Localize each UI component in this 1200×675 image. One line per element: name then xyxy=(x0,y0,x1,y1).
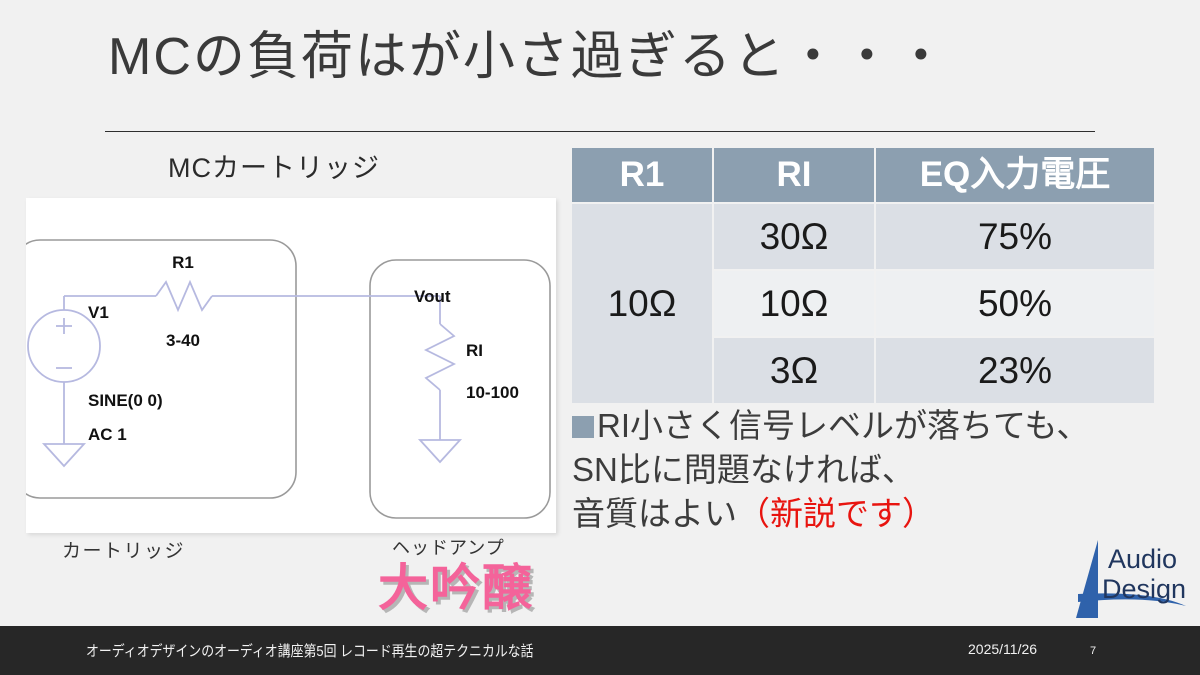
footer-title: オーディオデザインのオーディオ講座第5回 レコード再生の超テクニカルな話 xyxy=(86,640,534,661)
cartridge-enclosure xyxy=(26,240,296,498)
cell-ri-1: 10Ω xyxy=(713,270,875,337)
schematic-heading: MCカートリッジ xyxy=(168,146,380,185)
footer-page-number: 7 xyxy=(1090,645,1096,657)
label-v1: V1 xyxy=(88,303,109,322)
cell-eq-0: 75% xyxy=(875,203,1155,270)
resistance-table: R1 RI EQ入力電圧 10Ω 30Ω 75% 10Ω 50% 3Ω 23% xyxy=(570,146,1148,405)
wiring-right xyxy=(420,296,460,462)
bullet-text-3a: 音質はよい xyxy=(572,495,737,532)
bullet-text-1: RI小さく信号レベルが落ちても、 xyxy=(597,407,1089,444)
schematic-panel: R1 3-40 V1 SINE(0 0) AC 1 Vout RI 10-100 xyxy=(26,198,556,533)
cell-eq-2: 23% xyxy=(875,337,1155,404)
circuit-schematic: R1 3-40 V1 SINE(0 0) AC 1 Vout RI 10-100 xyxy=(26,198,556,533)
headamp-enclosure xyxy=(370,260,550,518)
cell-ri-2: 3Ω xyxy=(713,337,875,404)
logo-text-design: Design xyxy=(1102,574,1186,604)
table-header-eq: EQ入力電圧 xyxy=(875,147,1155,203)
footer-date: 2025/11/26 xyxy=(968,641,1037,657)
table-header-r1: R1 xyxy=(571,147,713,203)
label-ri-value: 10-100 xyxy=(466,383,519,402)
cell-ri-0: 30Ω xyxy=(713,203,875,270)
bullet-line-1: RI小さく信号レベルが落ちても、 xyxy=(572,404,1172,448)
logo-triangle-icon xyxy=(1076,540,1098,618)
title-divider xyxy=(105,131,1095,132)
bullet-line-2: SN比に問題なければ、 xyxy=(572,448,1172,492)
bullet-line-3: 音質はよい（新説です） xyxy=(572,492,1172,536)
label-ac: AC 1 xyxy=(88,425,127,444)
caption-cartridge: カートリッジ xyxy=(62,536,185,563)
table-header-row: R1 RI EQ入力電圧 xyxy=(571,147,1155,203)
table-row: 10Ω 30Ω 75% xyxy=(571,203,1155,270)
bullet-square-icon xyxy=(572,416,594,438)
table-header-ri: RI xyxy=(713,147,875,203)
label-sine: SINE(0 0) xyxy=(88,391,163,410)
cell-r1-value: 10Ω xyxy=(571,203,713,404)
label-r1-name: R1 xyxy=(172,253,194,272)
logo-text-audio: Audio xyxy=(1108,544,1177,574)
page-title: MCの負荷はが小さ過ぎると・・・ xyxy=(108,28,1098,88)
daiginjo-stamp: 大吟醸 xyxy=(378,548,534,620)
slide-root: MCの負荷はが小さ過ぎると・・・ MCカートリッジ xyxy=(0,0,1200,675)
audio-design-logo: Audio Design xyxy=(1068,532,1192,624)
label-vout: Vout xyxy=(414,287,451,306)
label-ri-name: RI xyxy=(466,341,483,360)
source-polarity xyxy=(56,318,72,368)
label-r1-value: 3-40 xyxy=(166,331,200,350)
conclusion-text: RI小さく信号レベルが落ちても、 SN比に問題なければ、 音質はよい（新説です） xyxy=(572,404,1172,536)
bullet-text-3b-highlight: （新説です） xyxy=(737,495,935,532)
cell-eq-1: 50% xyxy=(875,270,1155,337)
